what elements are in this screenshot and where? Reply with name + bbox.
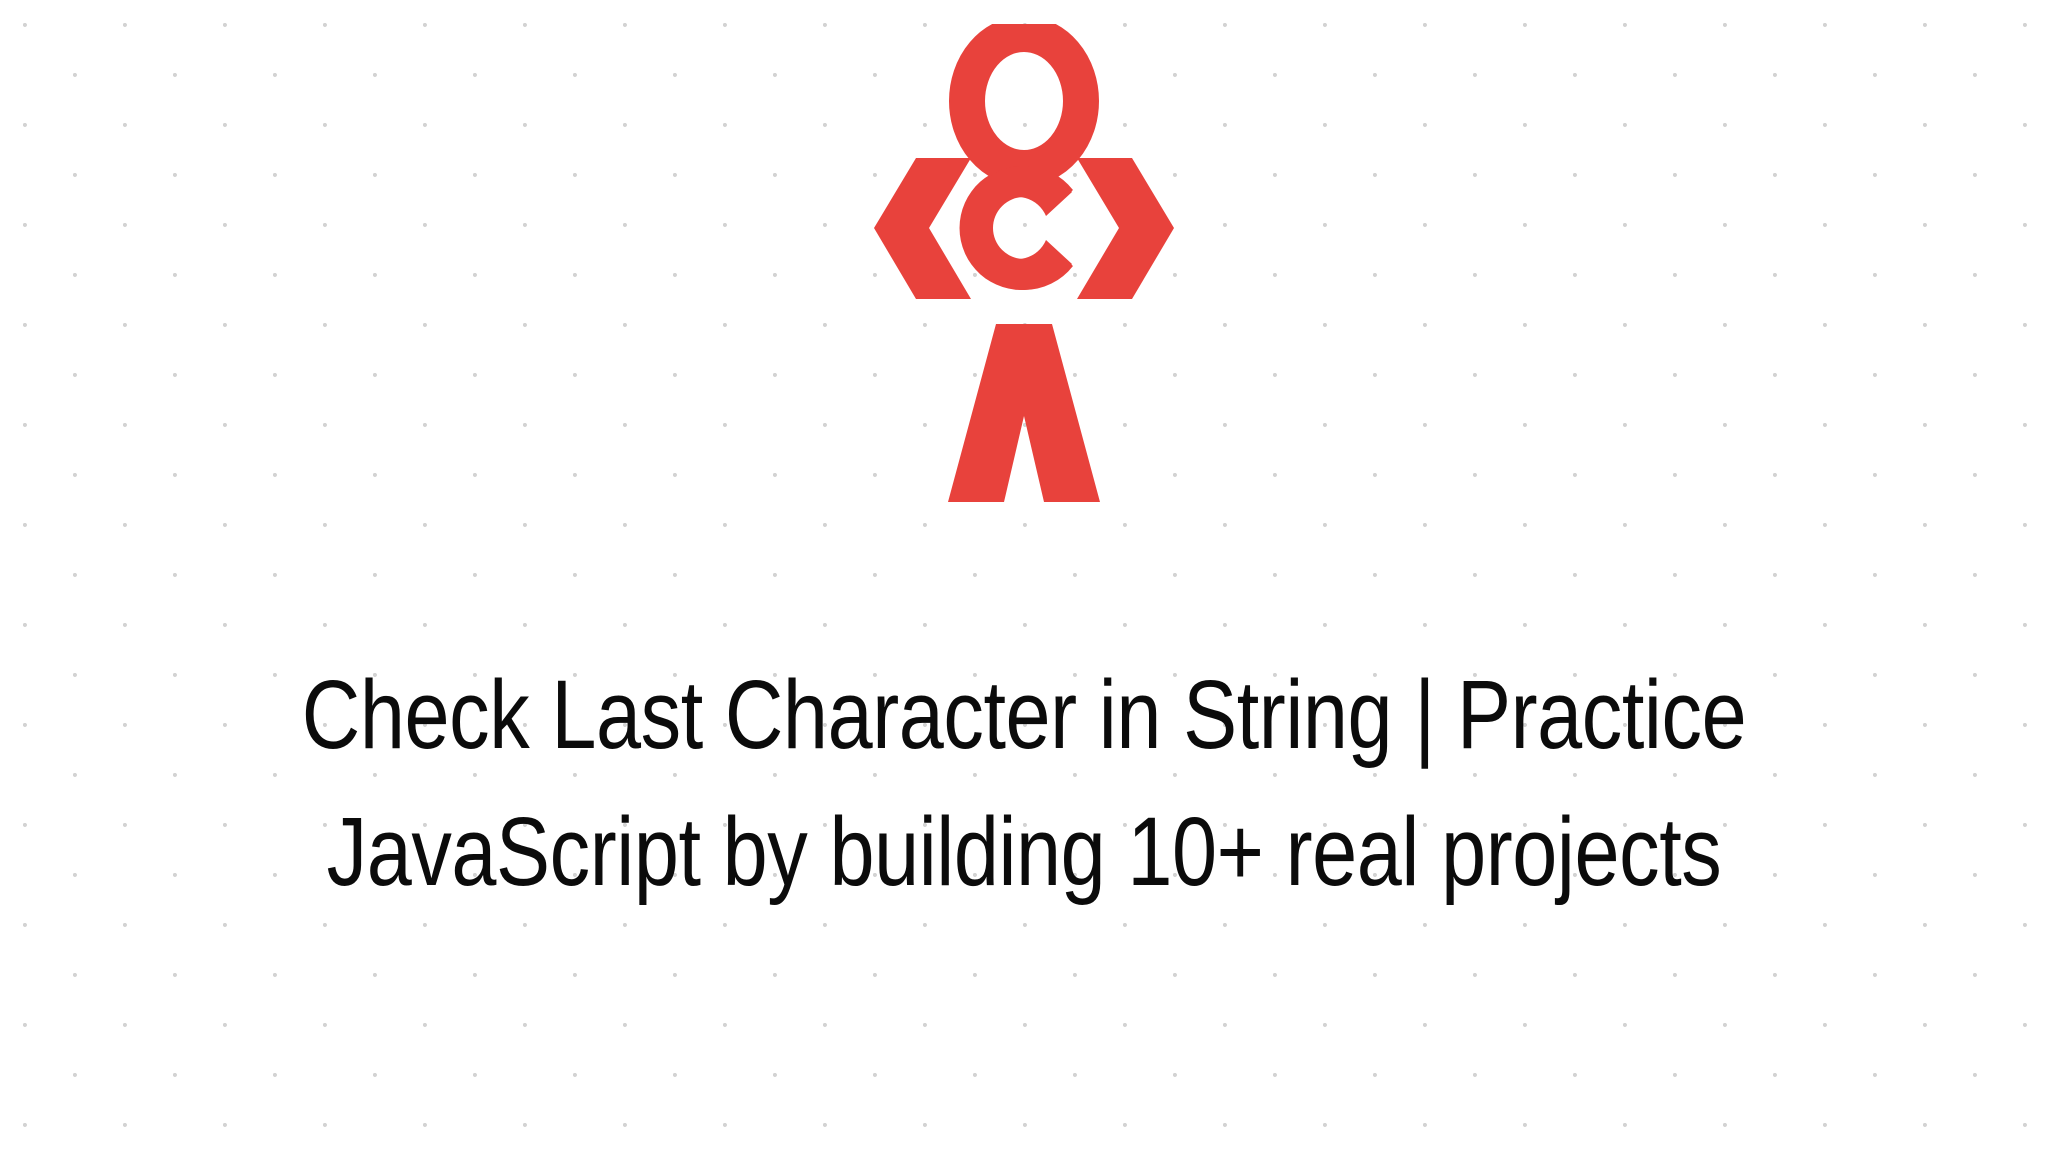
content-stack: Check Last Character in String | Practic… [0, 0, 2048, 1170]
logo-head-o-icon [967, 34, 1081, 168]
logo-left-chevron-icon [874, 158, 971, 299]
logo-legs-lambda-icon [948, 324, 1100, 502]
ocscript-stick-figure-logo [874, 24, 1174, 502]
page-root: Check Last Character in String | Practic… [0, 0, 2048, 1170]
page-title: Check Last Character in String | Practic… [169, 646, 1879, 920]
logo-right-chevron-icon [1077, 158, 1174, 299]
logo-body-c-icon [960, 166, 1073, 290]
logo-svg [874, 24, 1174, 502]
